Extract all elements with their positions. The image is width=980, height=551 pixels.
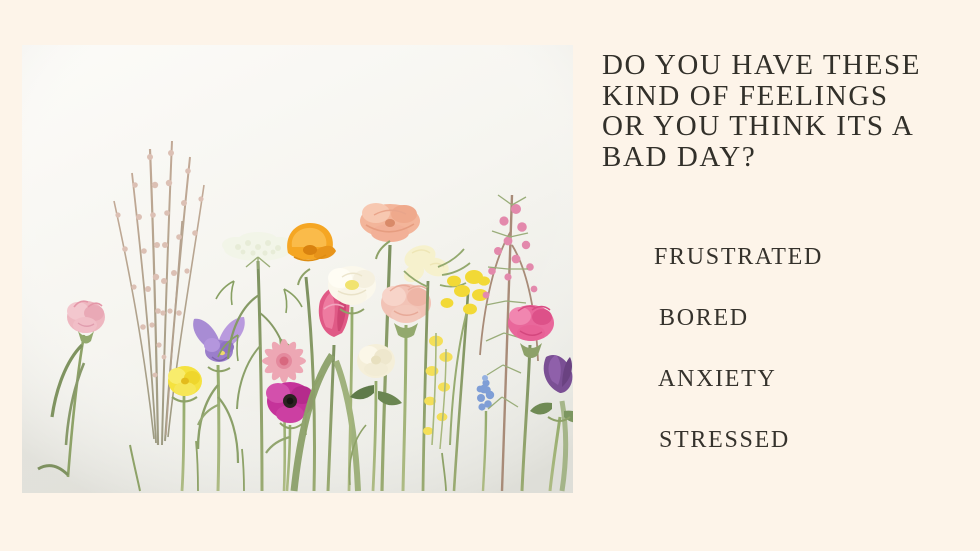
text-column: DO YOU HAVE THESE KIND OF FEELINGS OR YO… <box>602 50 962 500</box>
feelings-list: FRUSTRATED BORED ANXIETY STRESSED <box>654 245 823 452</box>
page-title: DO YOU HAVE THESE KIND OF FEELINGS OR YO… <box>602 50 962 172</box>
list-item-bored: BORED <box>654 306 823 330</box>
slide-canvas: DO YOU HAVE THESE KIND OF FEELINGS OR YO… <box>0 0 980 551</box>
list-item-stressed: STRESSED <box>654 428 823 452</box>
flower-photo-inner <box>22 45 573 493</box>
list-item-frustrated: FRUSTRATED <box>654 245 823 269</box>
list-item-anxiety: ANXIETY <box>654 367 823 391</box>
flower-photo-illustration <box>22 45 573 493</box>
flower-photo <box>22 45 573 493</box>
